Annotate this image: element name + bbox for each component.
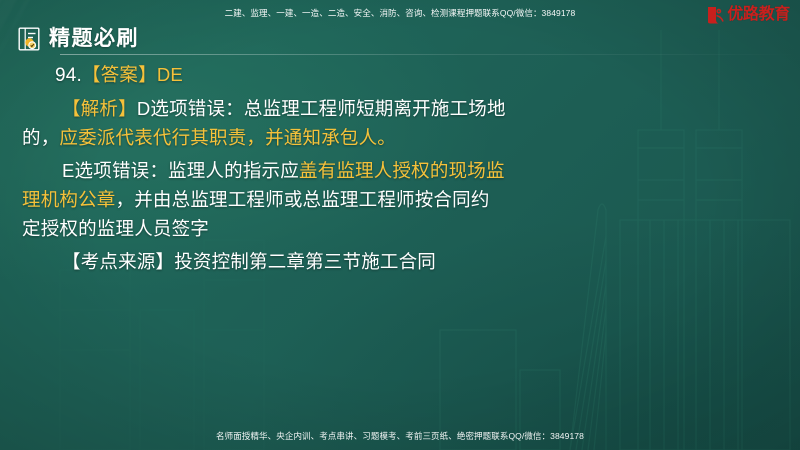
analysis-line-4: 理机构公章，并由总监理工程师或总监理工程师按合同约 bbox=[22, 185, 778, 214]
analysis-label: 【解析】 bbox=[62, 98, 137, 119]
book-icon bbox=[18, 27, 40, 51]
header-divider bbox=[60, 54, 800, 55]
footer-contact-text: 名师面授精华、央企内训、考点串讲、习题模考、考前三页纸、绝密押题联系QQ/微信：… bbox=[0, 430, 800, 442]
analysis-line5-white: 定授权的监理人员签字 bbox=[22, 218, 209, 239]
section-header: 精题必刷 bbox=[18, 24, 139, 54]
analysis-line3-white: E选项错误：监理人的指示应 bbox=[62, 160, 299, 181]
contact-banner-text: 二建、监理、一建、一造、二造、安全、消防、咨询、检测课程押题联系QQ/微信：38… bbox=[0, 7, 800, 19]
analysis-line-5: 定授权的监理人员签字 bbox=[22, 214, 778, 243]
slide-root: 二建、监理、一建、一造、二造、安全、消防、咨询、检测课程押题联系QQ/微信：38… bbox=[0, 0, 800, 450]
analysis-line4-highlight: 理机构公章 bbox=[22, 189, 116, 210]
analysis-line-3: E选项错误：监理人的指示应盖有监理人授权的现场监 bbox=[22, 156, 778, 185]
analysis-line3-highlight: 盖有监理人授权的现场监 bbox=[299, 160, 505, 181]
answer-label: 【答案】 bbox=[82, 64, 157, 85]
question-number: 94. bbox=[55, 65, 82, 86]
brand-logo: 优路教育 bbox=[705, 4, 790, 26]
answer-value: DE bbox=[157, 64, 183, 85]
source-line: 【考点来源】投资控制第二章第三节施工合同 bbox=[22, 247, 778, 276]
analysis-line4-white: ，并由总监理工程师或总监理工程师按合同约 bbox=[116, 189, 490, 210]
answer-line: 94.【答案】DE bbox=[22, 60, 778, 90]
source-label: 【考点来源】 bbox=[62, 251, 174, 272]
analysis-line-2: 的，应委派代表代行其职责，并通知承包人。 bbox=[22, 123, 778, 152]
brand-name: 优路教育 bbox=[727, 5, 790, 25]
source-value: 投资控制第二章第三节施工合同 bbox=[174, 251, 436, 272]
analysis-line2-highlight: 应委派代表代行其职责，并通知承包人。 bbox=[59, 127, 396, 148]
youlu-logo-icon bbox=[705, 5, 725, 25]
section-title: 精题必刷 bbox=[49, 27, 139, 51]
analysis-line2-white: 的， bbox=[22, 127, 59, 148]
slide-content: 94.【答案】DE 【解析】D选项错误：总监理工程师短期离开施工场地 的，应委派… bbox=[22, 60, 778, 276]
analysis-line-1: 【解析】D选项错误：总监理工程师短期离开施工场地 bbox=[22, 94, 778, 123]
analysis-text-d: D选项错误：总监理工程师短期离开施工场地 bbox=[137, 98, 506, 119]
